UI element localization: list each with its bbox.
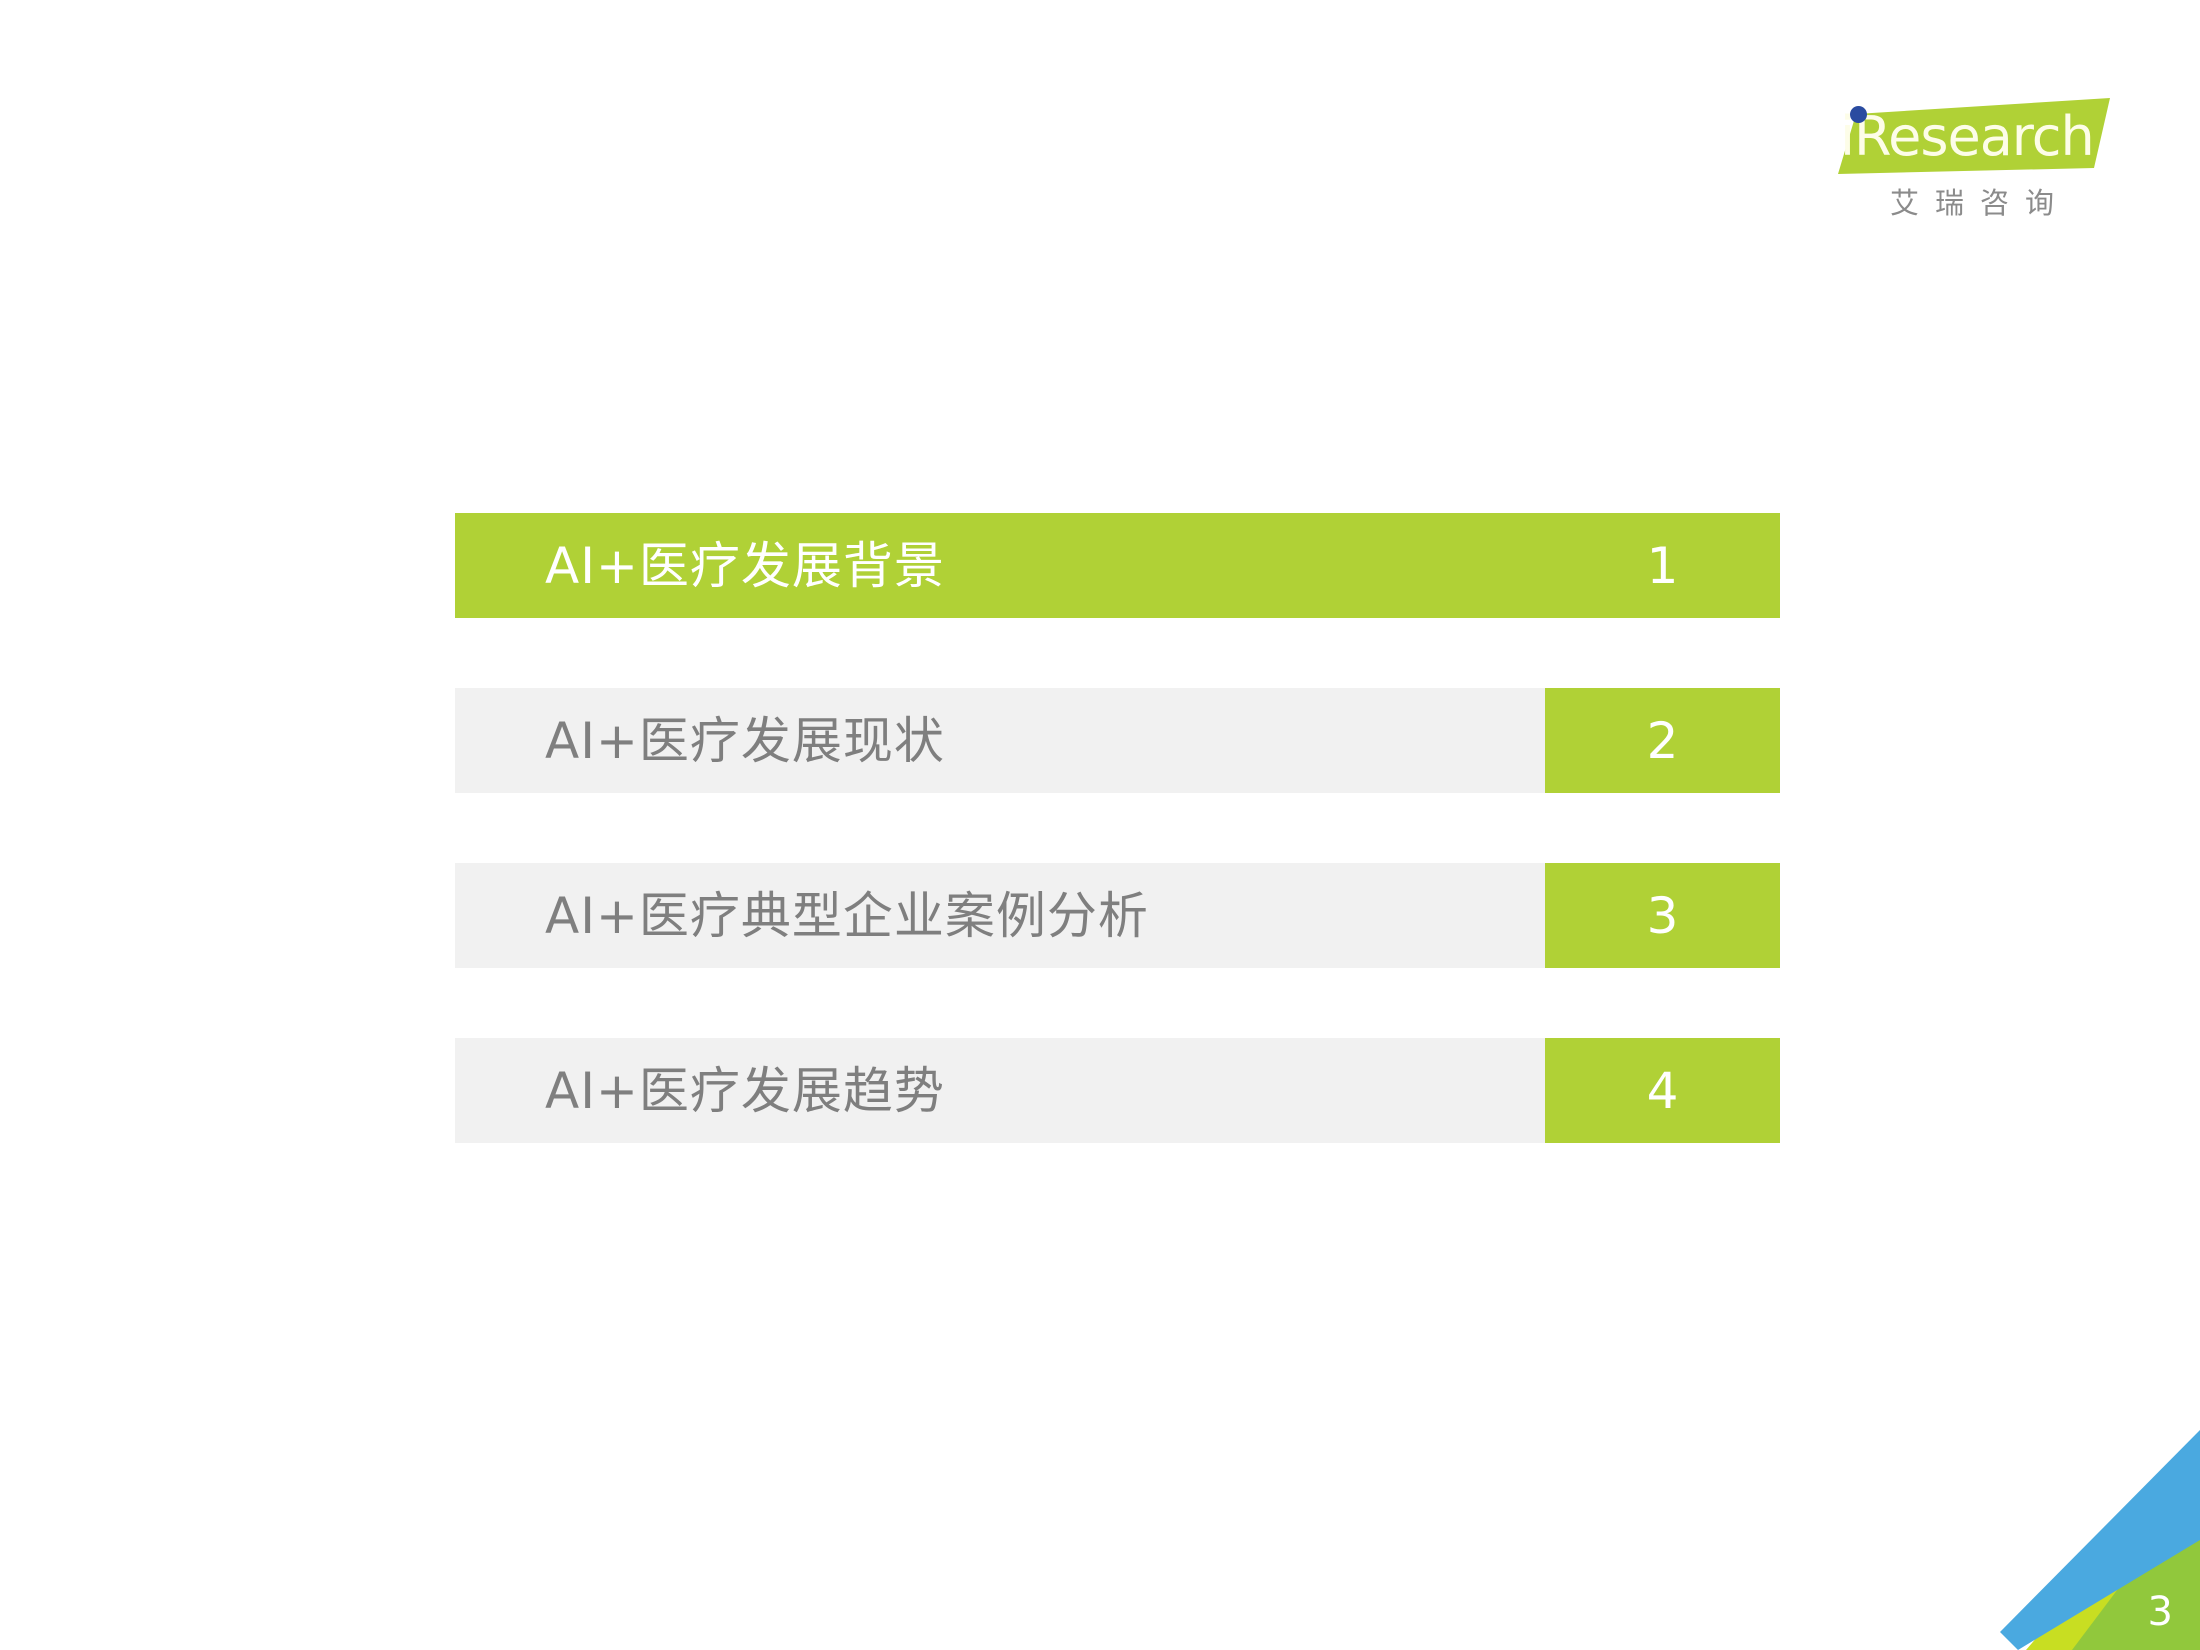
page-number: 3: [2148, 1592, 2173, 1632]
logo-research-text: Research: [1854, 105, 2094, 168]
table-of-contents: AI+医疗发展背景 1 AI+医疗发展现状 2 AI+医疗典型企业案例分析 3 …: [455, 513, 1780, 1143]
toc-item-1-number: 1: [1545, 513, 1780, 618]
iresearch-logo: iResearch 艾瑞咨询: [1832, 96, 2112, 256]
logo-dot-icon: [1850, 106, 1867, 123]
toc-item-3-number: 3: [1545, 863, 1780, 968]
toc-item-4[interactable]: AI+医疗发展趋势 4: [455, 1038, 1780, 1143]
toc-item-2[interactable]: AI+医疗发展现状 2: [455, 688, 1780, 793]
toc-item-3[interactable]: AI+医疗典型企业案例分析 3: [455, 863, 1780, 968]
logo-chinese-name: 艾瑞咨询: [1832, 182, 2112, 224]
toc-item-3-label: AI+医疗典型企业案例分析: [455, 863, 1545, 968]
slide-canvas: iResearch 艾瑞咨询 AI+医疗发展背景 1 AI+医疗发展现状 2 A…: [0, 0, 2200, 1650]
logo-mark: iResearch: [1832, 96, 2112, 176]
toc-item-1-label: AI+医疗发展背景: [455, 513, 1545, 618]
toc-item-2-number: 2: [1545, 688, 1780, 793]
toc-item-4-number: 4: [1545, 1038, 1780, 1143]
logo-wordmark-text: iResearch: [1840, 98, 2112, 176]
toc-item-2-label: AI+医疗发展现状: [455, 688, 1545, 793]
toc-item-1[interactable]: AI+医疗发展背景 1: [455, 513, 1780, 618]
toc-item-4-label: AI+医疗发展趋势: [455, 1038, 1545, 1143]
